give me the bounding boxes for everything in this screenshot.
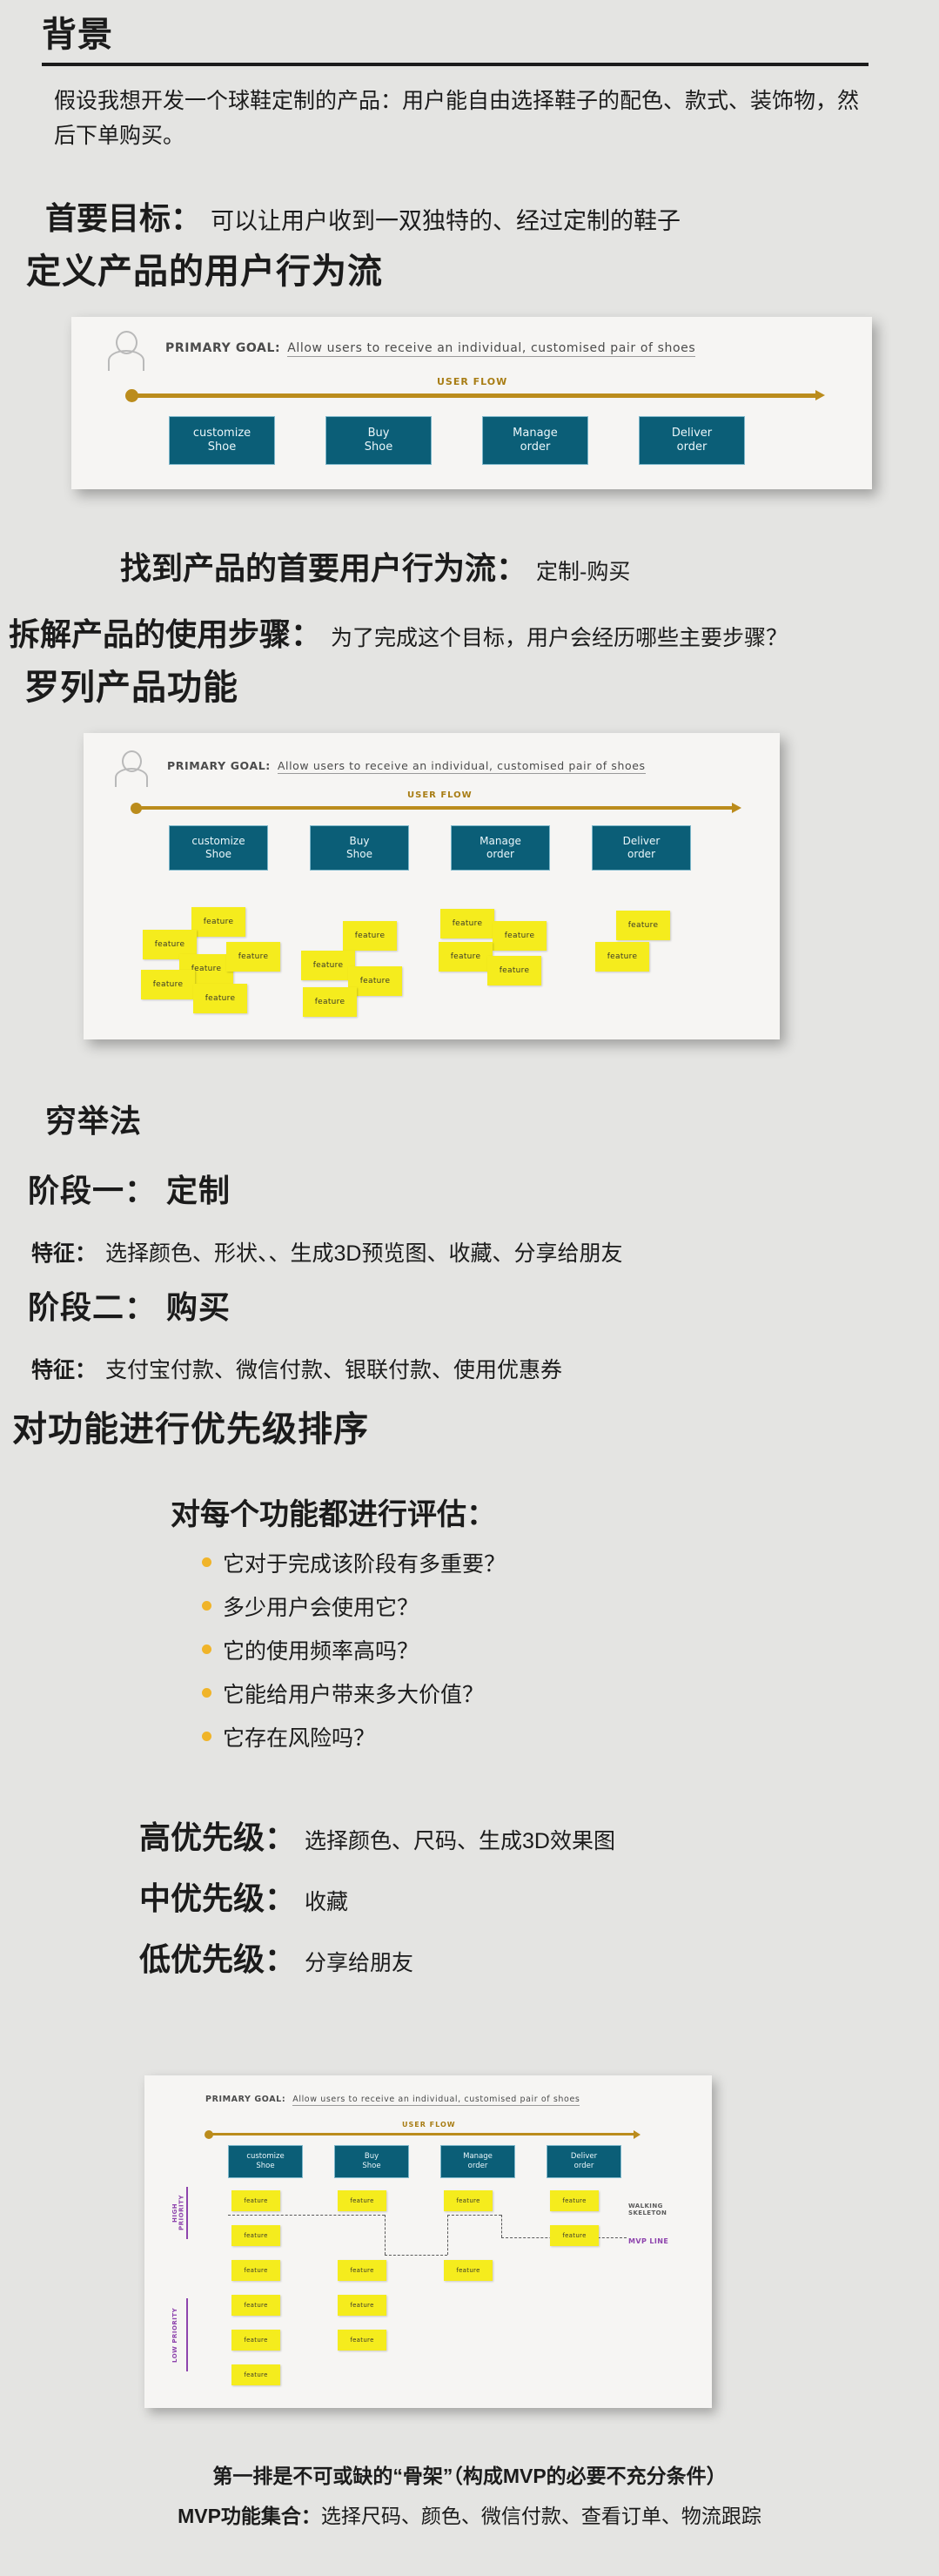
high-priority-label: HIGH PRIORITY — [172, 2185, 185, 2241]
flow-step-line2: order — [574, 2162, 594, 2170]
feature-note: feature — [595, 942, 649, 972]
stage-2-title: 阶段二： 购买 — [28, 1290, 231, 1325]
flow-step-line1: customize — [191, 835, 245, 847]
priority-high-value: 选择颜色、尺码、生成3D效果图 — [305, 1824, 615, 1855]
feature-note: feature — [303, 987, 357, 1017]
stage-1-features-value: 选择颜色、形状、、生成3D预览图、收藏、分享给朋友 — [105, 1236, 622, 1268]
low-priority-bar — [186, 2298, 188, 2371]
flow-step-line2: order — [677, 441, 708, 454]
background-paragraph: 假设我想开发一个球鞋定制的产品：用户能自由选择鞋子的配色、款式、装饰物，然后下单… — [54, 84, 872, 153]
flow-step-box: customize Shoe — [228, 2145, 303, 2178]
feature-note: feature — [231, 2295, 280, 2316]
feature-note: feature — [141, 970, 195, 999]
primary-goal-text: PRIMARY GOAL: Allow users to receive an … — [205, 2095, 580, 2106]
walking-skeleton-line1: WALKING — [628, 2203, 663, 2209]
flow-step-box: Buy Shoe — [310, 825, 409, 871]
feature-note: feature — [338, 2295, 386, 2316]
flow-step-box: Manage order — [482, 416, 588, 465]
feature-note: feature — [439, 942, 493, 972]
userflow-caption: USER FLOW — [402, 2121, 456, 2129]
list-item: 它对于完成该阶段有多重要？ — [198, 1543, 860, 1586]
section-exhaustive-title: 穷举法 — [45, 1104, 142, 1139]
feature-note: feature — [343, 921, 397, 951]
list-item: 它的使用频率高吗？ — [198, 1630, 860, 1673]
primary-goal-prefix: PRIMARY GOAL: — [205, 2095, 285, 2104]
decompose-steps-value: 为了完成这个目标，用户会经历哪些主要步骤？ — [331, 621, 788, 652]
flow-step-line2: Shoe — [256, 2162, 274, 2170]
flow-step-line1: Deliver — [571, 2152, 597, 2161]
footer-note-1: 第一排是不可或缺的“骨架”（构成MVP的必要不充分条件） — [0, 2460, 939, 2492]
primary-goal-row: 首要目标： 可以让用户收到一双独特的、经过定制的鞋子 — [45, 193, 898, 239]
mvp-diagram: PRIMARY GOAL: Allow users to receive an … — [144, 2075, 712, 2408]
evaluate-heading: 对每个功能都进行评估： — [171, 1490, 496, 1533]
flow-step-line2: Shoe — [208, 441, 236, 454]
low-priority-label: LOW PRIORITY — [172, 2297, 179, 2373]
priority-medium-value: 收藏 — [305, 1885, 348, 1916]
priority-high-row: 高优先级： 选择颜色、尺码、生成3D效果图 — [139, 1813, 888, 1858]
flow-step-box: Deliver order — [547, 2145, 621, 2178]
userflow-caption: USER FLOW — [407, 790, 473, 800]
primary-goal-prefix: PRIMARY GOAL: — [165, 341, 280, 355]
flow-step-line1: Manage — [480, 835, 521, 847]
feature-note: feature — [550, 2190, 599, 2211]
feature-note: feature — [226, 942, 280, 972]
userflow-diagram-2: PRIMARY GOAL: Allow users to receive an … — [84, 733, 780, 1039]
list-item: 多少用户会使用它？ — [198, 1586, 860, 1630]
stage-2-features-label: 特征： — [31, 1353, 97, 1384]
find-primary-flow-value: 定制-购买 — [536, 555, 630, 586]
mvp-boundary-line — [228, 2215, 385, 2216]
priority-low-label: 低优先级： — [139, 1934, 296, 1980]
mvp-boundary-line — [447, 2215, 448, 2255]
stage-1-features-row: 特征： 选择颜色、形状、、生成3D预览图、收藏、分享给朋友 — [31, 1236, 902, 1268]
decompose-steps-label: 拆解产品的使用步骤： — [9, 609, 322, 655]
primary-goal-value: 可以让用户收到一双独特的、经过定制的鞋子 — [211, 202, 681, 236]
high-priority-bar — [186, 2187, 188, 2239]
evaluation-question-list: 它对于完成该阶段有多重要？ 多少用户会使用它？ 它的使用频率高吗？ 它能给用户带… — [198, 1543, 860, 1760]
primary-goal-text: PRIMARY GOAL: Allow users to receive an … — [167, 759, 646, 774]
axis-arrow-icon — [732, 803, 741, 813]
flow-step-box: Deliver order — [592, 825, 691, 871]
flow-step-box: Manage order — [451, 825, 550, 871]
feature-note: feature — [301, 951, 355, 980]
flow-step-line1: Buy — [350, 835, 370, 847]
feature-note: feature — [191, 907, 245, 937]
feature-note: feature — [231, 2260, 280, 2281]
stage-2-features-value: 支付宝付款、微信付款、银联付款、使用优惠券 — [105, 1353, 562, 1384]
flow-step-line1: customize — [246, 2152, 284, 2161]
userflow-axis — [131, 393, 818, 398]
flow-step-line2: order — [520, 441, 551, 454]
primary-goal-statement: Allow users to receive an individual, cu… — [287, 341, 695, 357]
primary-goal-statement: Allow users to receive an individual, cu… — [292, 2095, 580, 2106]
user-avatar-icon — [115, 750, 146, 787]
userflow-diagram-1: PRIMARY GOAL: Allow users to receive an … — [71, 317, 872, 489]
feature-note: feature — [231, 2364, 280, 2385]
feature-note: feature — [231, 2225, 280, 2246]
flow-step-line2: Shoe — [362, 2162, 380, 2170]
user-avatar-icon — [108, 331, 143, 371]
feature-note: feature — [231, 2190, 280, 2211]
feature-note: feature — [616, 911, 670, 940]
walking-skeleton-line2: SKELETON — [628, 2209, 667, 2216]
section-list-features-title: 罗列产品功能 — [24, 669, 238, 707]
feature-note: feature — [440, 909, 494, 938]
stage-1-title: 阶段一： 定制 — [28, 1174, 231, 1208]
userflow-axis — [209, 2133, 635, 2135]
feature-note: feature — [338, 2190, 386, 2211]
flow-step-box: Deliver order — [639, 416, 745, 465]
list-item: 它能给用户带来多大价值？ — [198, 1673, 860, 1717]
stage-2-features-row: 特征： 支付宝付款、微信付款、银联付款、使用优惠券 — [31, 1353, 902, 1384]
feature-note: feature — [338, 2260, 386, 2281]
feature-note: feature — [193, 984, 247, 1013]
axis-start-dot — [125, 389, 138, 402]
userflow-caption: USER FLOW — [437, 376, 507, 387]
feature-note: feature — [493, 921, 547, 951]
flow-step-line2: order — [627, 848, 655, 860]
mvp-line-label: MVP LINE — [628, 2237, 668, 2245]
mvp-boundary-line — [501, 2215, 502, 2237]
flow-step-box: customize Shoe — [169, 825, 268, 871]
primary-goal-label: 首要目标： — [45, 193, 202, 239]
feature-note: feature — [231, 2330, 280, 2351]
walking-skeleton-note: WALKING SKELETON — [628, 2203, 667, 2216]
section-background: 背景 — [42, 16, 869, 66]
section-prioritize-title: 对功能进行优先级排序 — [12, 1410, 369, 1449]
document-page: 背景 假设我想开发一个球鞋定制的产品：用户能自由选择鞋子的配色、款式、装饰物，然… — [0, 0, 939, 2576]
priority-high-label: 高优先级： — [139, 1813, 296, 1858]
feature-note: feature — [444, 2190, 493, 2211]
axis-start-dot — [131, 803, 142, 814]
userflow-axis — [136, 806, 734, 810]
priority-medium-row: 中优先级： 收藏 — [139, 1873, 888, 1919]
flow-step-line1: Deliver — [623, 835, 661, 847]
flow-step-line2: Shoe — [346, 848, 372, 860]
mvp-set-value: 选择尺码、颜色、微信付款、查看订单、物流跟踪 — [321, 2505, 761, 2527]
flow-step-line1: Manage — [513, 427, 558, 440]
primary-goal-prefix: PRIMARY GOAL: — [167, 759, 271, 772]
priority-medium-label: 中优先级： — [139, 1873, 296, 1919]
flow-step-line2: order — [468, 2162, 488, 2170]
title-divider — [42, 63, 869, 66]
list-item: 它存在风险吗？ — [198, 1717, 860, 1760]
find-primary-flow-label: 找到产品的首要用户行为流： — [120, 543, 527, 589]
find-primary-flow-row: 找到产品的首要用户行为流： 定制-购买 — [120, 543, 903, 589]
decompose-steps-row: 拆解产品的使用步骤： 为了完成这个目标，用户会经历哪些主要步骤？ — [9, 609, 931, 655]
primary-goal-text: PRIMARY GOAL: Allow users to receive an … — [165, 341, 695, 357]
priority-low-value: 分享给朋友 — [305, 1946, 413, 1977]
mvp-boundary-line — [385, 2255, 447, 2256]
flow-step-line1: Buy — [368, 427, 390, 440]
priority-low-row: 低优先级： 分享给朋友 — [139, 1934, 888, 1980]
primary-goal-statement: Allow users to receive an individual, cu… — [278, 759, 646, 774]
mvp-set-label: MVP功能集合： — [178, 2505, 321, 2527]
flow-step-box: Buy Shoe — [334, 2145, 409, 2178]
feature-note: feature — [444, 2260, 493, 2281]
flow-step-box: customize Shoe — [169, 416, 275, 465]
flow-step-line1: Manage — [463, 2152, 493, 2161]
flow-step-line1: customize — [193, 427, 251, 440]
flow-step-line2: Shoe — [365, 441, 392, 454]
axis-arrow-icon — [815, 390, 825, 400]
feature-note: feature — [338, 2330, 386, 2351]
flow-step-line1: Buy — [365, 2152, 379, 2161]
flow-step-box: Manage order — [440, 2145, 515, 2178]
flow-step-line2: Shoe — [205, 848, 231, 860]
flow-step-line1: Deliver — [672, 427, 712, 440]
user-avatar-icon — [167, 2088, 191, 2115]
mvp-boundary-line — [447, 2215, 501, 2216]
feature-note: feature — [487, 956, 541, 985]
axis-start-dot — [205, 2130, 213, 2139]
flow-step-line2: order — [486, 848, 514, 860]
feature-note: feature — [550, 2225, 599, 2246]
flow-step-box: Buy Shoe — [325, 416, 432, 465]
footer-note-2: MVP功能集合：选择尺码、颜色、微信付款、查看订单、物流跟踪 — [0, 2500, 939, 2532]
axis-arrow-icon — [634, 2130, 641, 2139]
page-title: 背景 — [42, 16, 869, 54]
stage-1-features-label: 特征： — [31, 1236, 97, 1268]
section-define-userflow-title: 定义产品的用户行为流 — [26, 252, 383, 291]
mvp-boundary-line — [385, 2215, 386, 2255]
